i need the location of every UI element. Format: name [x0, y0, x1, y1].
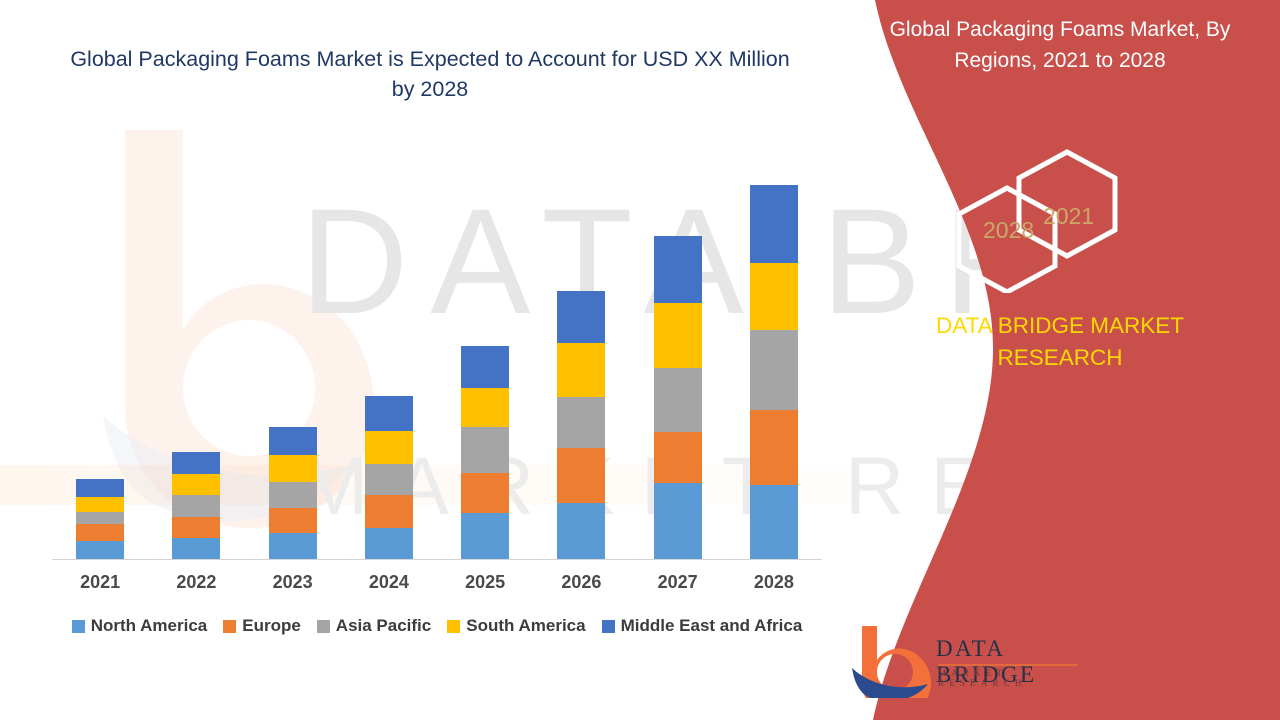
chart-legend: North AmericaEuropeAsia PacificSouth Ame…	[52, 616, 822, 636]
bar-segment	[365, 464, 413, 495]
bar-segment	[654, 483, 702, 559]
bar-segment	[269, 508, 317, 533]
legend-label: South America	[466, 616, 585, 636]
x-axis-line	[52, 559, 822, 560]
legend-swatch-icon	[602, 620, 615, 633]
bar-stack-2022[interactable]	[172, 452, 220, 559]
bar-segment	[365, 396, 413, 431]
x-axis-label-2023: 2023	[253, 572, 333, 593]
hex-label-2021: 2021	[1043, 203, 1094, 230]
x-axis-label-2028: 2028	[734, 572, 814, 593]
bar-stack-2024[interactable]	[365, 396, 413, 559]
bar-stack-2026[interactable]	[557, 291, 605, 559]
bar-segment	[172, 495, 220, 517]
bar-segment	[461, 513, 509, 559]
bar-segment	[557, 503, 605, 559]
bar-segment	[172, 517, 220, 538]
bar-stack-2028[interactable]	[750, 185, 798, 559]
legend-item-europe[interactable]: Europe	[223, 616, 301, 636]
bar-segment	[654, 432, 702, 483]
hex-label-2028: 2028	[983, 217, 1034, 244]
bar-segment	[269, 533, 317, 559]
legend-item-north-america[interactable]: North America	[72, 616, 208, 636]
bar-segment	[557, 343, 605, 397]
x-axis-labels: 20212022202320242025202620272028	[52, 572, 822, 602]
bar-segment	[365, 528, 413, 559]
legend-item-middle-east-and-africa[interactable]: Middle East and Africa	[602, 616, 803, 636]
bar-segment	[750, 185, 798, 263]
x-axis-label-2022: 2022	[156, 572, 236, 593]
bar-segment	[461, 346, 509, 388]
bar-segment	[76, 524, 124, 541]
brand-line-2: RESEARCH	[880, 342, 1240, 374]
bar-segment	[461, 427, 509, 473]
bar-segment	[269, 427, 317, 455]
bar-segment	[750, 485, 798, 559]
logo-b-mark-icon	[850, 622, 934, 698]
bar-stack-2023[interactable]	[269, 427, 317, 559]
legend-label: Middle East and Africa	[621, 616, 803, 636]
legend-item-south-america[interactable]: South America	[447, 616, 585, 636]
x-axis-label-2026: 2026	[541, 572, 621, 593]
bar-segment	[76, 541, 124, 559]
bar-segment	[172, 452, 220, 474]
logo-subtitle: MARKET RESEARCH	[938, 668, 1080, 688]
legend-swatch-icon	[447, 620, 460, 633]
bar-segment	[461, 388, 509, 427]
bar-segment	[750, 330, 798, 410]
chart-title: Global Packaging Foams Market is Expecte…	[70, 44, 790, 104]
bar-segment	[365, 431, 413, 464]
bar-stack-2021[interactable]	[76, 479, 124, 559]
x-axis-label-2024: 2024	[349, 572, 429, 593]
chart-plot-area	[52, 120, 822, 560]
legend-swatch-icon	[317, 620, 330, 633]
bar-segment	[76, 497, 124, 512]
bar-segment	[654, 368, 702, 432]
infographic-canvas: DATA BRIDGE MARKET RESEARCH Global Packa…	[0, 0, 1280, 720]
logo-divider	[938, 664, 1078, 666]
legend-item-asia-pacific[interactable]: Asia Pacific	[317, 616, 431, 636]
x-axis-label-2025: 2025	[445, 572, 525, 593]
x-axis-label-2021: 2021	[60, 572, 140, 593]
brand-line-1: DATA BRIDGE MARKET	[880, 310, 1240, 342]
brand-text: DATA BRIDGE MARKET RESEARCH	[880, 310, 1240, 374]
bar-stack-2027[interactable]	[654, 236, 702, 559]
legend-swatch-icon	[223, 620, 236, 633]
bar-stack-2025[interactable]	[461, 346, 509, 559]
legend-label: Asia Pacific	[336, 616, 431, 636]
bar-segment	[654, 303, 702, 368]
legend-label: North America	[91, 616, 208, 636]
bar-segment	[365, 495, 413, 528]
bar-segment	[557, 448, 605, 503]
bar-segment	[557, 291, 605, 343]
company-logo: DATA BRIDGE MARKET RESEARCH	[850, 622, 1080, 700]
bar-segment	[750, 410, 798, 485]
panel-title: Global Packaging Foams Market, By Region…	[860, 14, 1260, 76]
legend-label: Europe	[242, 616, 301, 636]
x-axis-label-2027: 2027	[638, 572, 718, 593]
hexagon-badges: 2021 2028	[945, 148, 1155, 293]
bar-segment	[269, 455, 317, 482]
bar-segment	[172, 538, 220, 559]
bar-segment	[557, 397, 605, 448]
bar-segment	[269, 482, 317, 508]
bar-segment	[76, 512, 124, 524]
bar-segment	[172, 474, 220, 495]
bar-segment	[750, 263, 798, 330]
bar-segment	[461, 473, 509, 513]
legend-swatch-icon	[72, 620, 85, 633]
bar-segment	[76, 479, 124, 497]
red-panel-content: Global Packaging Foams Market, By Region…	[840, 0, 1280, 720]
bar-segment	[654, 236, 702, 303]
